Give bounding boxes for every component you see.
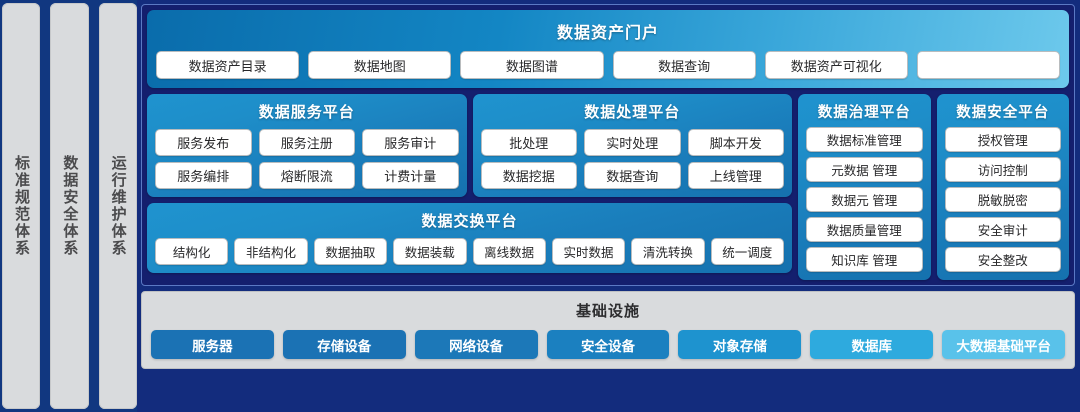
platforms-row: 数据服务平台 服务发布 服务注册 服务审计 服务编排 熔断限流 计费计量	[147, 94, 1069, 280]
governance-platform-panel: 数据治理平台 数据标准管理 元数据 管理 数据元 管理 数据质量管理 知识库 管…	[798, 94, 931, 280]
pillar-standards[interactable]: 标准规范体系	[2, 3, 40, 409]
portal-title: 数据资产门户	[156, 17, 1060, 51]
service-item-billing[interactable]: 计费计量	[362, 162, 459, 189]
portal-panel: 数据资产门户 数据资产目录 数据地图 数据图谱 数据查询 数据资产可视化	[147, 10, 1069, 88]
security-platform-items: 授权管理 访问控制 脱敏脱密 安全审计 安全整改	[945, 127, 1062, 272]
infrastructure-items: 服务器 存储设备 网络设备 安全设备 对象存储 数据库 大数据基础平台	[151, 330, 1065, 359]
processing-item-script-dev[interactable]: 脚本开发	[688, 129, 785, 156]
pillar-data-security[interactable]: 数据安全体系	[50, 3, 88, 409]
infra-item-security-device[interactable]: 安全设备	[547, 330, 670, 359]
security-item-authorization[interactable]: 授权管理	[945, 127, 1062, 152]
infrastructure-title: 基础设施	[151, 299, 1065, 330]
governance-platform-title: 数据治理平台	[806, 100, 923, 127]
portal-item-visualization[interactable]: 数据资产可视化	[765, 51, 908, 79]
pillar-operations-maintenance-label: 运行维护体系	[109, 155, 127, 257]
governance-item-metadata[interactable]: 元数据 管理	[806, 157, 923, 182]
governance-item-data-quality[interactable]: 数据质量管理	[806, 217, 923, 242]
platforms-left-column: 数据服务平台 服务发布 服务注册 服务审计 服务编排 熔断限流 计费计量	[147, 94, 792, 280]
architecture-diagram: 标准规范体系 数据安全体系 运行维护体系 数据资产门户 数据资产目录 数据地图 …	[0, 0, 1080, 412]
service-item-circuit-breaker[interactable]: 熔断限流	[259, 162, 356, 189]
portal-items: 数据资产目录 数据地图 数据图谱 数据查询 数据资产可视化	[156, 51, 1060, 79]
pillar-standards-label: 标准规范体系	[12, 155, 30, 257]
security-item-access-control[interactable]: 访问控制	[945, 157, 1062, 182]
infra-item-database[interactable]: 数据库	[810, 330, 933, 359]
security-item-security-rectification[interactable]: 安全整改	[945, 247, 1062, 272]
pillar-operations-maintenance[interactable]: 运行维护体系	[99, 3, 137, 409]
infra-item-storage-device[interactable]: 存储设备	[283, 330, 406, 359]
processing-platform-items: 批处理 实时处理 脚本开发 数据挖据 数据查询 上线管理	[481, 129, 785, 189]
exchange-item-unstructured[interactable]: 非结构化	[234, 238, 307, 265]
infra-item-server[interactable]: 服务器	[151, 330, 274, 359]
service-platform-panel: 数据服务平台 服务发布 服务注册 服务审计 服务编排 熔断限流 计费计量	[147, 94, 467, 197]
governance-item-knowledge-base[interactable]: 知识库 管理	[806, 247, 923, 272]
security-platform-panel: 数据安全平台 授权管理 访问控制 脱敏脱密 安全审计 安全整改	[937, 94, 1070, 280]
service-item-audit[interactable]: 服务审计	[362, 129, 459, 156]
exchange-item-realtime-data[interactable]: 实时数据	[552, 238, 625, 265]
portal-item-graph[interactable]: 数据图谱	[460, 51, 603, 79]
platforms-left-top-row: 数据服务平台 服务发布 服务注册 服务审计 服务编排 熔断限流 计费计量	[147, 94, 792, 197]
exchange-platform-items: 结构化 非结构化 数据抽取 数据装载 离线数据 实时数据 清洗转换 统一调度	[155, 238, 784, 265]
exchange-item-structured[interactable]: 结构化	[155, 238, 228, 265]
security-item-desensitization[interactable]: 脱敏脱密	[945, 187, 1062, 212]
processing-item-batch[interactable]: 批处理	[481, 129, 578, 156]
governance-item-data-element[interactable]: 数据元 管理	[806, 187, 923, 212]
portal-item-catalog[interactable]: 数据资产目录	[156, 51, 299, 79]
service-platform-title: 数据服务平台	[155, 100, 459, 129]
processing-item-realtime[interactable]: 实时处理	[584, 129, 681, 156]
governance-platform-items: 数据标准管理 元数据 管理 数据元 管理 数据质量管理 知识库 管理	[806, 127, 923, 272]
pillar-data-security-label: 数据安全体系	[61, 155, 79, 257]
service-item-publish[interactable]: 服务发布	[155, 129, 252, 156]
platforms-right-column: 数据治理平台 数据标准管理 元数据 管理 数据元 管理 数据质量管理 知识库 管…	[798, 94, 1069, 280]
infrastructure-panel: 基础设施 服务器 存储设备 网络设备 安全设备 对象存储 数据库 大数据基础平台	[141, 291, 1075, 369]
security-platform-title: 数据安全平台	[945, 100, 1062, 127]
service-platform-items: 服务发布 服务注册 服务审计 服务编排 熔断限流 计费计量	[155, 129, 459, 189]
processing-item-mining[interactable]: 数据挖据	[481, 162, 578, 189]
processing-platform-panel: 数据处理平台 批处理 实时处理 脚本开发 数据挖据 数据查询 上线管理	[473, 94, 793, 197]
exchange-item-cleansing[interactable]: 清洗转换	[631, 238, 704, 265]
exchange-platform-panel: 数据交换平台 结构化 非结构化 数据抽取 数据装载 离线数据 实时数据 清洗转换…	[147, 203, 792, 273]
portal-item-query[interactable]: 数据查询	[613, 51, 756, 79]
portal-item-map[interactable]: 数据地图	[308, 51, 451, 79]
service-item-register[interactable]: 服务注册	[259, 129, 356, 156]
exchange-platform-title: 数据交换平台	[155, 209, 784, 238]
exchange-item-extract[interactable]: 数据抽取	[314, 238, 387, 265]
portal-item-empty[interactable]	[917, 51, 1060, 79]
exchange-item-scheduling[interactable]: 统一调度	[711, 238, 784, 265]
processing-item-query[interactable]: 数据查询	[584, 162, 681, 189]
vertical-pillars-group: 标准规范体系 数据安全体系 运行维护体系	[0, 0, 137, 412]
infra-item-object-storage[interactable]: 对象存储	[678, 330, 801, 359]
infra-item-network-device[interactable]: 网络设备	[415, 330, 538, 359]
platform-frame: 数据资产门户 数据资产目录 数据地图 数据图谱 数据查询 数据资产可视化	[141, 4, 1075, 286]
processing-item-release-mgmt[interactable]: 上线管理	[688, 162, 785, 189]
infra-item-bigdata-platform[interactable]: 大数据基础平台	[942, 330, 1065, 359]
exchange-item-load[interactable]: 数据装载	[393, 238, 466, 265]
processing-platform-title: 数据处理平台	[481, 100, 785, 129]
exchange-item-offline-data[interactable]: 离线数据	[473, 238, 546, 265]
governance-item-data-standard[interactable]: 数据标准管理	[806, 127, 923, 152]
main-stack: 数据资产门户 数据资产目录 数据地图 数据图谱 数据查询 数据资产可视化	[137, 0, 1080, 412]
service-item-orchestration[interactable]: 服务编排	[155, 162, 252, 189]
security-item-security-audit[interactable]: 安全审计	[945, 217, 1062, 242]
